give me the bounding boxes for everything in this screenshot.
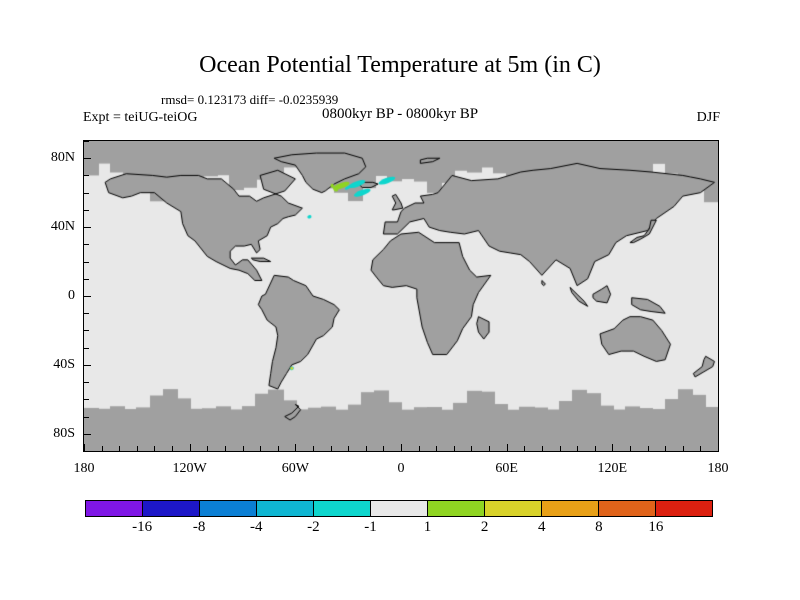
y-axis-label: 80N bbox=[25, 150, 75, 166]
colorbar-tick-label: -2 bbox=[307, 519, 320, 536]
y-axis-minor-tick bbox=[84, 330, 89, 331]
x-axis-label: 180 bbox=[74, 461, 95, 477]
colorbar-segment bbox=[86, 501, 142, 516]
colorbar bbox=[85, 500, 713, 517]
y-axis-minor-tick bbox=[84, 399, 89, 400]
x-axis-minor-tick bbox=[700, 446, 701, 451]
x-axis-major-tick bbox=[401, 444, 402, 451]
y-axis-minor-tick bbox=[84, 210, 89, 211]
map-plot-area bbox=[83, 140, 719, 452]
colorbar-segment bbox=[256, 501, 313, 516]
x-axis-minor-tick bbox=[331, 446, 332, 451]
y-axis-major-tick bbox=[84, 296, 91, 297]
x-axis-minor-tick bbox=[471, 446, 472, 451]
x-axis-minor-tick bbox=[560, 446, 561, 451]
x-axis-major-tick bbox=[295, 444, 296, 451]
colorbar-segment bbox=[541, 501, 598, 516]
x-axis-label: 60E bbox=[495, 461, 518, 477]
y-axis-minor-tick bbox=[84, 279, 89, 280]
colorbar-tick-label: 2 bbox=[481, 519, 489, 536]
x-axis-minor-tick bbox=[154, 446, 155, 451]
x-axis-label: 60W bbox=[282, 461, 309, 477]
y-axis-minor-tick bbox=[84, 193, 89, 194]
colorbar-segment bbox=[313, 501, 370, 516]
colorbar-segment bbox=[427, 501, 484, 516]
colorbar-segment bbox=[655, 501, 712, 516]
world-map-canvas bbox=[84, 141, 718, 451]
x-axis-label: 120E bbox=[598, 461, 628, 477]
x-axis-minor-tick bbox=[348, 446, 349, 451]
x-axis-minor-tick bbox=[207, 446, 208, 451]
y-axis-minor-tick bbox=[84, 382, 89, 383]
colorbar-tick-label: 16 bbox=[648, 519, 663, 536]
x-axis-minor-tick bbox=[313, 446, 314, 451]
x-axis-minor-tick bbox=[577, 446, 578, 451]
x-axis-minor-tick bbox=[542, 446, 543, 451]
x-axis-minor-tick bbox=[225, 446, 226, 451]
x-axis-minor-tick bbox=[278, 446, 279, 451]
x-axis-minor-tick bbox=[683, 446, 684, 451]
colorbar-tick-label: 8 bbox=[595, 519, 603, 536]
colorbar-segment bbox=[199, 501, 256, 516]
x-axis-minor-tick bbox=[260, 446, 261, 451]
colorbar-segment bbox=[484, 501, 541, 516]
x-axis-minor-tick bbox=[243, 446, 244, 451]
colorbar-tick-label: -1 bbox=[364, 519, 377, 536]
x-axis-major-tick bbox=[612, 444, 613, 451]
experiment-annotation: Expt = teiUG-teiOG bbox=[83, 110, 197, 126]
y-axis-major-tick bbox=[84, 158, 91, 159]
x-axis-label: 120W bbox=[173, 461, 207, 477]
x-axis-label: 0 bbox=[398, 461, 405, 477]
x-axis-major-tick bbox=[718, 444, 719, 451]
colorbar-segment bbox=[370, 501, 427, 516]
x-axis-major-tick bbox=[507, 444, 508, 451]
y-axis-label: 80S bbox=[25, 426, 75, 442]
y-axis-minor-tick bbox=[84, 313, 89, 314]
colorbar-tick-label: -16 bbox=[132, 519, 152, 536]
x-axis-minor-tick bbox=[454, 446, 455, 451]
x-axis-major-tick bbox=[190, 444, 191, 451]
x-axis-label: 180 bbox=[708, 461, 729, 477]
x-axis-minor-tick bbox=[436, 446, 437, 451]
colorbar-tick-label: 4 bbox=[538, 519, 546, 536]
y-axis-major-tick bbox=[84, 227, 91, 228]
y-axis-minor-tick bbox=[84, 244, 89, 245]
colorbar-tick-label: -8 bbox=[193, 519, 206, 536]
season-annotation: DJF bbox=[697, 110, 720, 126]
x-axis-minor-tick bbox=[137, 446, 138, 451]
x-axis-minor-tick bbox=[383, 446, 384, 451]
colorbar-tick-label: 1 bbox=[424, 519, 432, 536]
x-axis-minor-tick bbox=[595, 446, 596, 451]
x-axis-minor-tick bbox=[630, 446, 631, 451]
x-axis-minor-tick bbox=[419, 446, 420, 451]
y-axis-minor-tick bbox=[84, 451, 89, 452]
x-axis-minor-tick bbox=[648, 446, 649, 451]
y-axis-minor-tick bbox=[84, 141, 89, 142]
statistics-annotation: rmsd= 0.123173 diff= -0.0235939 bbox=[161, 92, 338, 108]
x-axis-minor-tick bbox=[524, 446, 525, 451]
x-axis-minor-tick bbox=[172, 446, 173, 451]
y-axis-major-tick bbox=[84, 434, 91, 435]
x-axis-minor-tick bbox=[119, 446, 120, 451]
y-axis-label: 40S bbox=[25, 357, 75, 373]
x-axis-minor-tick bbox=[366, 446, 367, 451]
x-axis-minor-tick bbox=[489, 446, 490, 451]
y-axis-minor-tick bbox=[84, 348, 89, 349]
x-axis-minor-tick bbox=[102, 446, 103, 451]
y-axis-minor-tick bbox=[84, 262, 89, 263]
x-axis-major-tick bbox=[84, 444, 85, 451]
page-title: Ocean Potential Temperature at 5m (in C) bbox=[0, 52, 800, 79]
x-axis-minor-tick bbox=[665, 446, 666, 451]
colorbar-segment bbox=[598, 501, 655, 516]
y-axis-label: 40N bbox=[25, 219, 75, 235]
y-axis-major-tick bbox=[84, 365, 91, 366]
colorbar-segment bbox=[142, 501, 199, 516]
y-axis-minor-tick bbox=[84, 417, 89, 418]
period-annotation: 0800kyr BP - 0800kyr BP bbox=[322, 106, 478, 123]
y-axis-minor-tick bbox=[84, 175, 89, 176]
colorbar-tick-label: -4 bbox=[250, 519, 263, 536]
y-axis-label: 0 bbox=[25, 288, 75, 304]
